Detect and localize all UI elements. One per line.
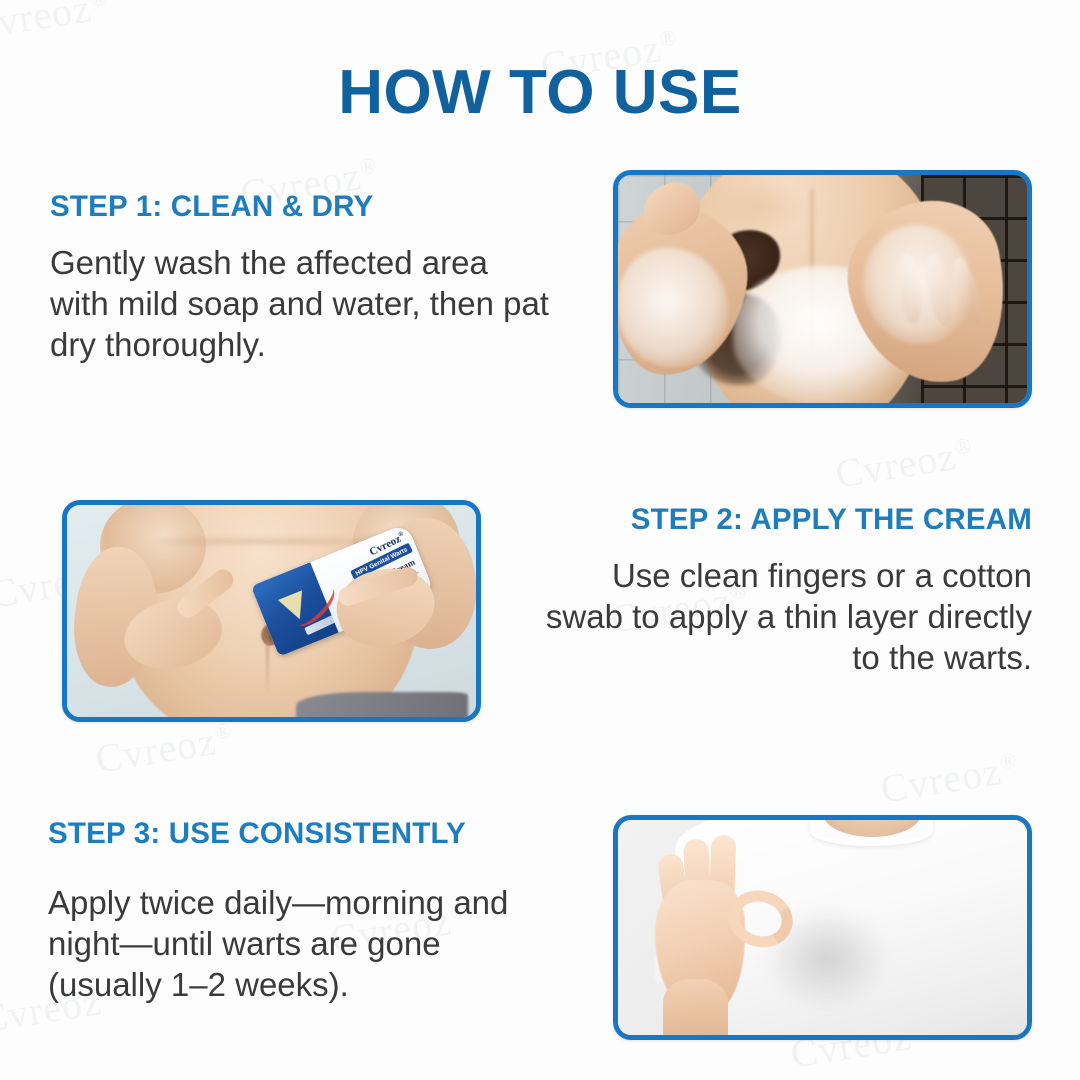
step-2-image: Cvreoz® HPV Genital Warts Relief Cream F…	[62, 500, 481, 722]
wrist	[663, 979, 728, 1035]
step-3-heading: STEP 3: USE CONSISTENTLY	[48, 817, 466, 851]
step-3-body: Apply twice daily—morning and night—unti…	[48, 883, 548, 1006]
step-1-heading: STEP 1: CLEAN & DRY	[50, 190, 373, 224]
watermark: Cvreoz®	[877, 744, 1022, 812]
how-to-use-infographic: Cvreoz® Cvreoz® Cvreoz® Cvreoz® Cvreoz® …	[0, 0, 1080, 1080]
step-2-heading: STEP 2: APPLY THE CREAM	[631, 503, 1032, 537]
watermark: Cvreoz®	[92, 714, 237, 782]
abdomen-midline	[266, 632, 269, 696]
step-1-body: Gently wash the affected area with mild …	[50, 243, 550, 366]
page-title: HOW TO USE	[0, 57, 1080, 128]
step-2-body: Use clean fingers or a cotton swab to ap…	[532, 556, 1032, 679]
watermark: Cvreoz®	[0, 0, 112, 50]
watermark: Cvreoz®	[832, 429, 977, 497]
waistband	[296, 692, 468, 717]
step-3-image	[613, 815, 1032, 1040]
step-1-image	[613, 170, 1032, 408]
